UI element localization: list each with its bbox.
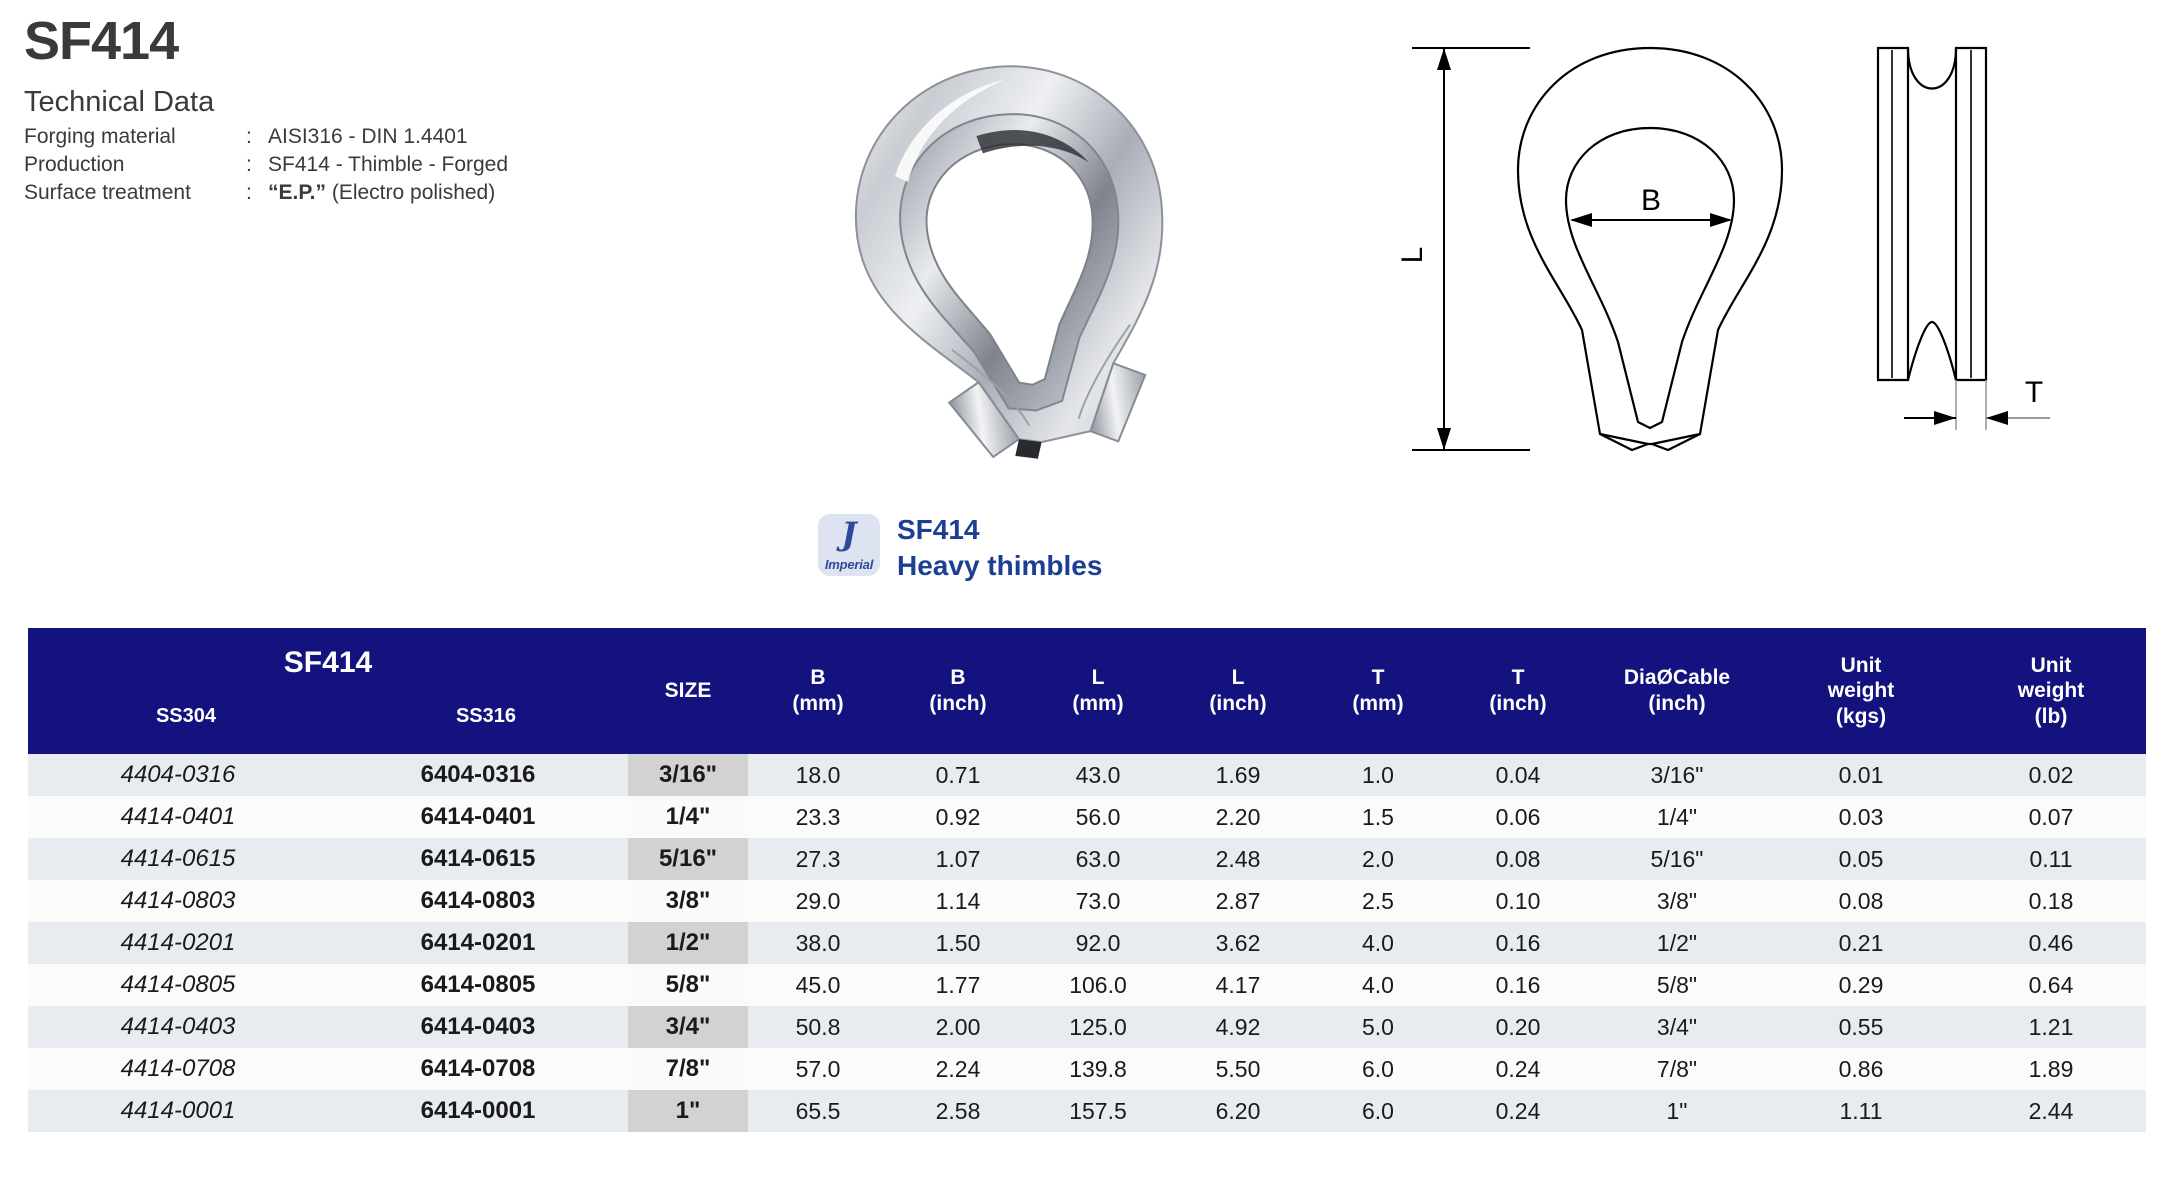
header-cell-size: SIZE — [628, 628, 748, 754]
technical-data-heading: Technical Data — [24, 86, 724, 119]
product-photo — [780, 40, 1250, 480]
tech-row-forging-material: Forging material : AISI316 - DIN 1.4401 — [24, 123, 724, 151]
cell-l_mm: 106.0 — [1028, 964, 1168, 1006]
table-row: 4414-02016414-02011/2"38.01.5092.03.624.… — [28, 922, 2146, 964]
imperial-logo-icon: J Imperial — [818, 514, 880, 576]
side-view-svg: T — [1860, 30, 2160, 490]
cell-l_mm: 56.0 — [1028, 796, 1168, 838]
cell-b_inch: 0.92 — [888, 796, 1028, 838]
cell-weight_kgs: 0.29 — [1766, 964, 1956, 1006]
header-cell-t-inch: T (inch) — [1448, 628, 1588, 754]
dim-L-label: L — [1400, 247, 1429, 264]
cell-ss304: 4414-0708 — [28, 1048, 328, 1090]
cell-dia_cable: 1/4" — [1588, 796, 1766, 838]
cell-b_mm: 27.3 — [748, 838, 888, 880]
header-l-mm-line1: L — [1028, 665, 1168, 691]
header-ss316: SS316 — [336, 705, 636, 728]
tech-value: “E.P.” (Electro polished) — [268, 179, 724, 207]
cell-t_inch: 0.16 — [1448, 964, 1588, 1006]
cell-t_mm: 4.0 — [1308, 964, 1448, 1006]
caption-text: SF414 Heavy thimbles — [897, 512, 1102, 584]
cell-weight_lb: 0.02 — [1956, 754, 2146, 796]
header-b-inch-line2: (inch) — [888, 691, 1028, 717]
header-t-inch-line2: (inch) — [1448, 691, 1588, 717]
header-b-mm-line2: (mm) — [748, 691, 888, 717]
dim-L-arrow-top — [1437, 48, 1451, 70]
cell-dia_cable: 5/16" — [1588, 838, 1766, 880]
tech-colon: : — [246, 151, 268, 179]
cell-dia_cable: 5/8" — [1588, 964, 1766, 1006]
cell-l_mm: 92.0 — [1028, 922, 1168, 964]
spec-table-body: 4404-03166404-03163/16"18.00.7143.01.691… — [28, 754, 2146, 1132]
dim-L-arrow-bottom — [1437, 428, 1451, 450]
cell-t_mm: 2.0 — [1308, 838, 1448, 880]
cell-t_inch: 0.24 — [1448, 1090, 1588, 1132]
spec-table-container: SF414 SS304 SS316 SIZE B (mm) B (inch) — [28, 628, 2146, 1132]
header-l-mm-line2: (mm) — [1028, 691, 1168, 717]
tech-label: Production — [24, 151, 246, 179]
tech-label: Surface treatment — [24, 179, 246, 207]
cell-weight_lb: 0.18 — [1956, 880, 2146, 922]
cell-weight_kgs: 0.55 — [1766, 1006, 1956, 1048]
header-weight-lb-line3: (lb) — [1956, 704, 2146, 730]
header-cell-l-inch: L (inch) — [1168, 628, 1308, 754]
cell-l_mm: 63.0 — [1028, 838, 1168, 880]
spec-table: SF414 SS304 SS316 SIZE B (mm) B (inch) — [28, 628, 2146, 1132]
front-notch-right — [1652, 434, 1700, 444]
cell-l_inch: 2.48 — [1168, 838, 1308, 880]
cell-dia_cable: 1" — [1588, 1090, 1766, 1132]
tech-value: AISI316 - DIN 1.4401 — [268, 123, 724, 151]
dimension-L: L — [1400, 48, 1530, 450]
cell-ss316: 6414-0201 — [328, 922, 628, 964]
header-cell-b-mm: B (mm) — [748, 628, 888, 754]
cell-dia_cable: 3/4" — [1588, 1006, 1766, 1048]
cell-t_mm: 6.0 — [1308, 1090, 1448, 1132]
page-title: SF414 — [24, 14, 724, 68]
dim-B-arrow-right — [1710, 213, 1732, 227]
table-row: 4404-03166404-03163/16"18.00.7143.01.691… — [28, 754, 2146, 796]
header-b-mm-line1: B — [748, 665, 888, 691]
cell-weight_kgs: 0.08 — [1766, 880, 1956, 922]
header-t-mm-line1: T — [1308, 665, 1448, 691]
cell-ss316: 6414-0615 — [328, 838, 628, 880]
cell-weight_lb: 2.44 — [1956, 1090, 2146, 1132]
cell-b_inch: 1.07 — [888, 838, 1028, 880]
cell-b_mm: 29.0 — [748, 880, 888, 922]
header-t-mm-line2: (mm) — [1308, 691, 1448, 717]
header-weight-kgs-line3: (kgs) — [1766, 704, 1956, 730]
cell-b_inch: 0.71 — [888, 754, 1028, 796]
cell-size: 3/16" — [628, 754, 748, 796]
caption-line-description: Heavy thimbles — [897, 548, 1102, 584]
cell-l_inch: 2.20 — [1168, 796, 1308, 838]
tech-value: SF414 - Thimble - Forged — [268, 151, 724, 179]
cell-l_mm: 43.0 — [1028, 754, 1168, 796]
caption-line-model: SF414 — [897, 512, 1102, 548]
tech-value-rest: (Electro polished) — [332, 181, 495, 204]
side-groove-top — [1908, 48, 1956, 89]
brand-caption: J Imperial SF414 Heavy thimbles — [818, 512, 1102, 584]
dimension-B: B — [1570, 184, 1732, 227]
cell-ss316: 6404-0316 — [328, 754, 628, 796]
side-wall-left — [1878, 48, 1908, 380]
header-l-inch-line2: (inch) — [1168, 691, 1308, 717]
cell-weight_kgs: 0.21 — [1766, 922, 1956, 964]
cell-l_inch: 3.62 — [1168, 922, 1308, 964]
logo-letter: J — [818, 515, 880, 553]
dim-B-arrow-left — [1570, 213, 1592, 227]
table-row: 4414-08056414-08055/8"45.01.77106.04.174… — [28, 964, 2146, 1006]
drawing-side-view: T — [1860, 30, 2160, 490]
dim-B-label: B — [1641, 184, 1661, 217]
cell-b_mm: 23.3 — [748, 796, 888, 838]
cell-ss304: 4414-0403 — [28, 1006, 328, 1048]
cell-t_inch: 0.06 — [1448, 796, 1588, 838]
header-dia-cable-line1: DiaØCable — [1588, 665, 1766, 691]
table-row: 4414-08036414-08033/8"29.01.1473.02.872.… — [28, 880, 2146, 922]
tech-row-surface-treatment: Surface treatment : “E.P.” (Electro poli… — [24, 179, 724, 207]
cell-l_inch: 1.69 — [1168, 754, 1308, 796]
header-b-inch-line1: B — [888, 665, 1028, 691]
cell-dia_cable: 3/8" — [1588, 880, 1766, 922]
dimension-T: T — [1904, 376, 2050, 430]
cell-weight_kgs: 1.11 — [1766, 1090, 1956, 1132]
cell-b_inch: 1.50 — [888, 922, 1028, 964]
cell-ss304: 4414-0201 — [28, 922, 328, 964]
cell-weight_lb: 0.11 — [1956, 838, 2146, 880]
front-notch-left — [1600, 434, 1648, 444]
cell-t_inch: 0.08 — [1448, 838, 1588, 880]
header-weight-lb-line1: Unit — [1956, 653, 2146, 679]
cell-size: 1/4" — [628, 796, 748, 838]
cell-weight_kgs: 0.03 — [1766, 796, 1956, 838]
header-cell-weight-lb: Unit weight (lb) — [1956, 628, 2146, 754]
header-weight-lb-line2: weight — [1956, 678, 2146, 704]
tech-value-emphasis: “E.P.” — [268, 181, 326, 204]
dim-T-arrow-right — [1986, 411, 2008, 425]
cell-ss304: 4414-0803 — [28, 880, 328, 922]
cell-dia_cable: 1/2" — [1588, 922, 1766, 964]
cell-ss316: 6414-0403 — [328, 1006, 628, 1048]
cell-t_inch: 0.20 — [1448, 1006, 1588, 1048]
header-weight-kgs-line1: Unit — [1766, 653, 1956, 679]
cell-l_mm: 157.5 — [1028, 1090, 1168, 1132]
cell-size: 5/8" — [628, 964, 748, 1006]
cell-ss316: 6414-0708 — [328, 1048, 628, 1090]
cell-size: 3/4" — [628, 1006, 748, 1048]
cell-dia_cable: 7/8" — [1588, 1048, 1766, 1090]
tech-label: Forging material — [24, 123, 246, 151]
cell-t_inch: 0.16 — [1448, 922, 1588, 964]
cell-weight_lb: 0.64 — [1956, 964, 2146, 1006]
cell-b_mm: 18.0 — [748, 754, 888, 796]
header-l-inch-line1: L — [1168, 665, 1308, 691]
table-row: 4414-07086414-07087/8"57.02.24139.85.506… — [28, 1048, 2146, 1090]
dim-T-arrow-left — [1934, 411, 1956, 425]
dim-T-label: T — [2025, 376, 2043, 409]
cell-l_inch: 2.87 — [1168, 880, 1308, 922]
front-view-svg: L B — [1400, 30, 1880, 490]
cell-l_mm: 139.8 — [1028, 1048, 1168, 1090]
cell-b_mm: 38.0 — [748, 922, 888, 964]
cell-weight_kgs: 0.86 — [1766, 1048, 1956, 1090]
cell-ss304: 4404-0316 — [28, 754, 328, 796]
cell-weight_kgs: 0.05 — [1766, 838, 1956, 880]
technical-data-block: SF414 Technical Data Forging material : … — [24, 14, 724, 207]
cell-ss304: 4414-0401 — [28, 796, 328, 838]
table-row: 4414-06156414-06155/16"27.31.0763.02.482… — [28, 838, 2146, 880]
cell-l_inch: 4.92 — [1168, 1006, 1308, 1048]
cell-ss316: 6414-0803 — [328, 880, 628, 922]
spec-table-head: SF414 SS304 SS316 SIZE B (mm) B (inch) — [28, 628, 2146, 754]
header-t-inch-line1: T — [1448, 665, 1588, 691]
cell-t_mm: 6.0 — [1308, 1048, 1448, 1090]
tech-colon: : — [246, 123, 268, 151]
cell-b_mm: 50.8 — [748, 1006, 888, 1048]
header-ss304: SS304 — [36, 705, 336, 728]
table-row: 4414-00016414-00011"65.52.58157.56.206.0… — [28, 1090, 2146, 1132]
cell-dia_cable: 3/16" — [1588, 754, 1766, 796]
logo-wordmark: Imperial — [818, 557, 880, 572]
header-cell-dia-cable: DiaØCable (inch) — [1588, 628, 1766, 754]
cell-t_mm: 1.0 — [1308, 754, 1448, 796]
drawing-front-view: L B — [1400, 30, 1880, 490]
cell-ss304: 4414-0805 — [28, 964, 328, 1006]
cell-t_inch: 0.10 — [1448, 880, 1588, 922]
cell-t_inch: 0.24 — [1448, 1048, 1588, 1090]
cell-t_mm: 1.5 — [1308, 796, 1448, 838]
front-outer-outline — [1518, 48, 1782, 450]
cell-t_inch: 0.04 — [1448, 754, 1588, 796]
cell-ss304: 4414-0615 — [28, 838, 328, 880]
cell-l_mm: 73.0 — [1028, 880, 1168, 922]
cell-l_inch: 6.20 — [1168, 1090, 1308, 1132]
cell-b_inch: 1.77 — [888, 964, 1028, 1006]
cell-weight_lb: 1.89 — [1956, 1048, 2146, 1090]
header-cell-t-mm: T (mm) — [1308, 628, 1448, 754]
cell-l_inch: 4.17 — [1168, 964, 1308, 1006]
tech-colon: : — [246, 179, 268, 207]
cell-b_inch: 2.24 — [888, 1048, 1028, 1090]
cell-weight_lb: 1.21 — [1956, 1006, 2146, 1048]
cell-ss316: 6414-0805 — [328, 964, 628, 1006]
spec-table-header-row: SF414 SS304 SS316 SIZE B (mm) B (inch) — [28, 628, 2146, 754]
header-cell-weight-kgs: Unit weight (kgs) — [1766, 628, 1956, 754]
cell-b_inch: 1.14 — [888, 880, 1028, 922]
cell-size: 5/16" — [628, 838, 748, 880]
cell-weight_lb: 0.46 — [1956, 922, 2146, 964]
cell-t_mm: 2.5 — [1308, 880, 1448, 922]
cell-t_mm: 4.0 — [1308, 922, 1448, 964]
cell-size: 1/2" — [628, 922, 748, 964]
cell-weight_kgs: 0.01 — [1766, 754, 1956, 796]
cell-ss304: 4414-0001 — [28, 1090, 328, 1132]
cell-l_mm: 125.0 — [1028, 1006, 1168, 1048]
cell-size: 1" — [628, 1090, 748, 1132]
tech-row-production: Production : SF414 - Thimble - Forged — [24, 151, 724, 179]
cell-l_inch: 5.50 — [1168, 1048, 1308, 1090]
header-weight-kgs-line2: weight — [1766, 678, 1956, 704]
cell-b_inch: 2.58 — [888, 1090, 1028, 1132]
cell-b_inch: 2.00 — [888, 1006, 1028, 1048]
cell-weight_lb: 0.07 — [1956, 796, 2146, 838]
cell-size: 7/8" — [628, 1048, 748, 1090]
cell-t_mm: 5.0 — [1308, 1006, 1448, 1048]
header-size-line1: SIZE — [628, 678, 748, 704]
header-title: SF414 — [28, 646, 628, 680]
cell-b_mm: 57.0 — [748, 1048, 888, 1090]
table-row: 4414-04016414-04011/4"23.30.9256.02.201.… — [28, 796, 2146, 838]
header-cell-l-mm: L (mm) — [1028, 628, 1168, 754]
side-hump-bottom — [1908, 322, 1956, 380]
cell-ss316: 6414-0401 — [328, 796, 628, 838]
cell-ss316: 6414-0001 — [328, 1090, 628, 1132]
thimble-photo-svg — [780, 40, 1250, 480]
header-cell-b-inch: B (inch) — [888, 628, 1028, 754]
header-dia-cable-line2: (inch) — [1588, 691, 1766, 717]
cell-b_mm: 65.5 — [748, 1090, 888, 1132]
table-row: 4414-04036414-04033/4"50.82.00125.04.925… — [28, 1006, 2146, 1048]
cell-size: 3/8" — [628, 880, 748, 922]
cell-b_mm: 45.0 — [748, 964, 888, 1006]
header-cell-identifiers: SF414 SS304 SS316 — [28, 628, 628, 754]
